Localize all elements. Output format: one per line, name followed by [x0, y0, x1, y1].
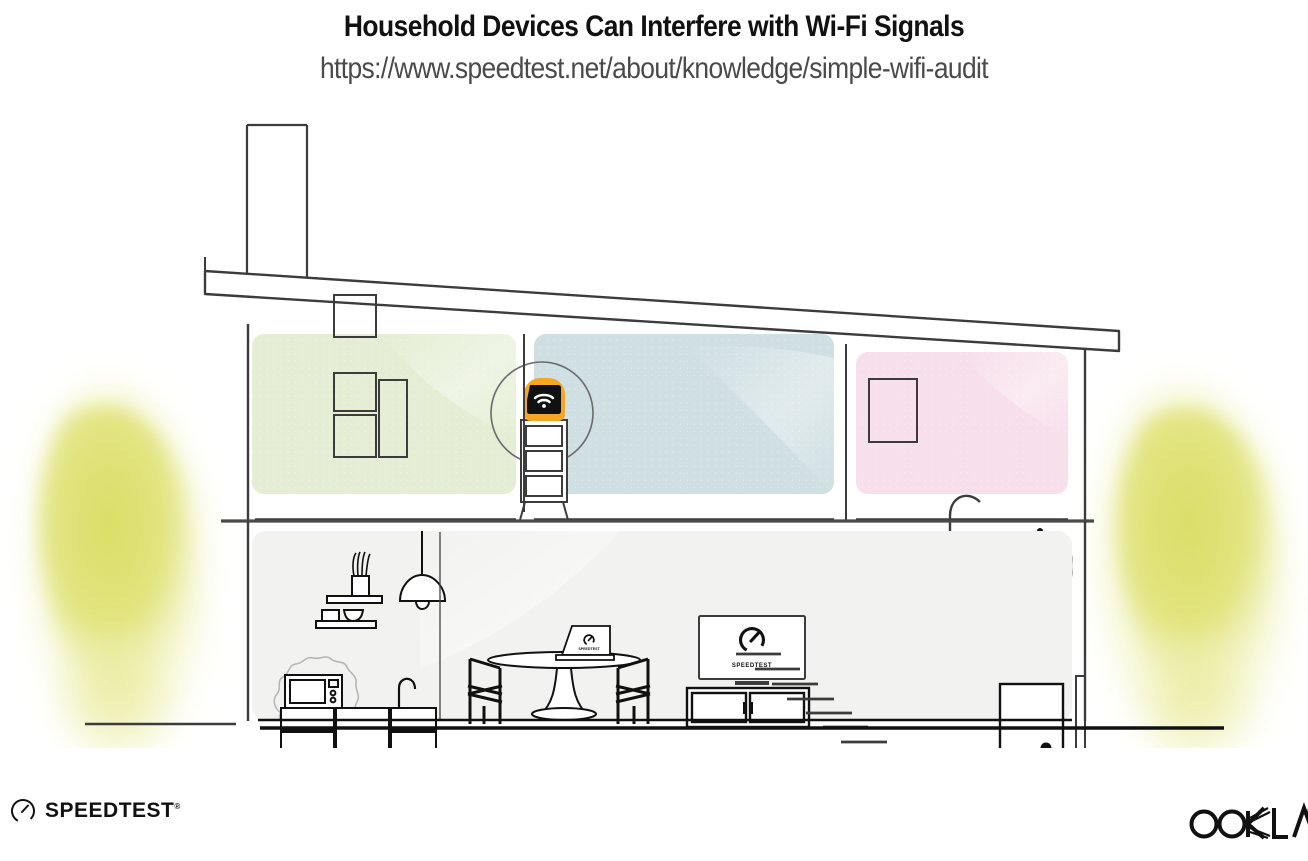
speedtest-wordmark: SPEEDTEST®	[45, 799, 181, 823]
living-room-tv: SPEEDTEST	[699, 616, 805, 685]
room-nursery-pink	[856, 352, 1068, 494]
exterior-downspout	[1076, 676, 1085, 748]
microwave	[285, 675, 342, 708]
speedtest-logo: SPEEDTEST®	[10, 798, 181, 824]
shelf-unit	[520, 420, 568, 520]
foliage-right	[1097, 384, 1290, 748]
foliage-left	[29, 384, 209, 748]
chimney	[247, 125, 307, 286]
source-url: https://www.speedtest.net/about/knowledg…	[78, 44, 1229, 86]
room-bedroom-green	[252, 334, 516, 494]
wifi-router-badge	[524, 378, 565, 421]
ookla-logo: ®	[1184, 802, 1308, 842]
speedtest-gauge-icon	[10, 798, 36, 824]
infographic-canvas: Household Devices Can Interfere with Wi-…	[0, 0, 1308, 861]
house-cutaway-illustration: SPEEDTEST	[0, 108, 1308, 748]
header: Household Devices Can Interfere with Wi-…	[0, 0, 1308, 86]
front-door	[1000, 684, 1063, 748]
footer: SPEEDTEST® ®	[0, 780, 1308, 861]
laptop-label: SPEEDTEST	[578, 647, 600, 651]
room-bedroom-blue	[534, 334, 834, 494]
page-title: Household Devices Can Interfere with Wi-…	[78, 0, 1229, 44]
speedtest-registered-mark: ®	[174, 802, 180, 811]
ookla-mark: ®	[1184, 802, 1308, 842]
